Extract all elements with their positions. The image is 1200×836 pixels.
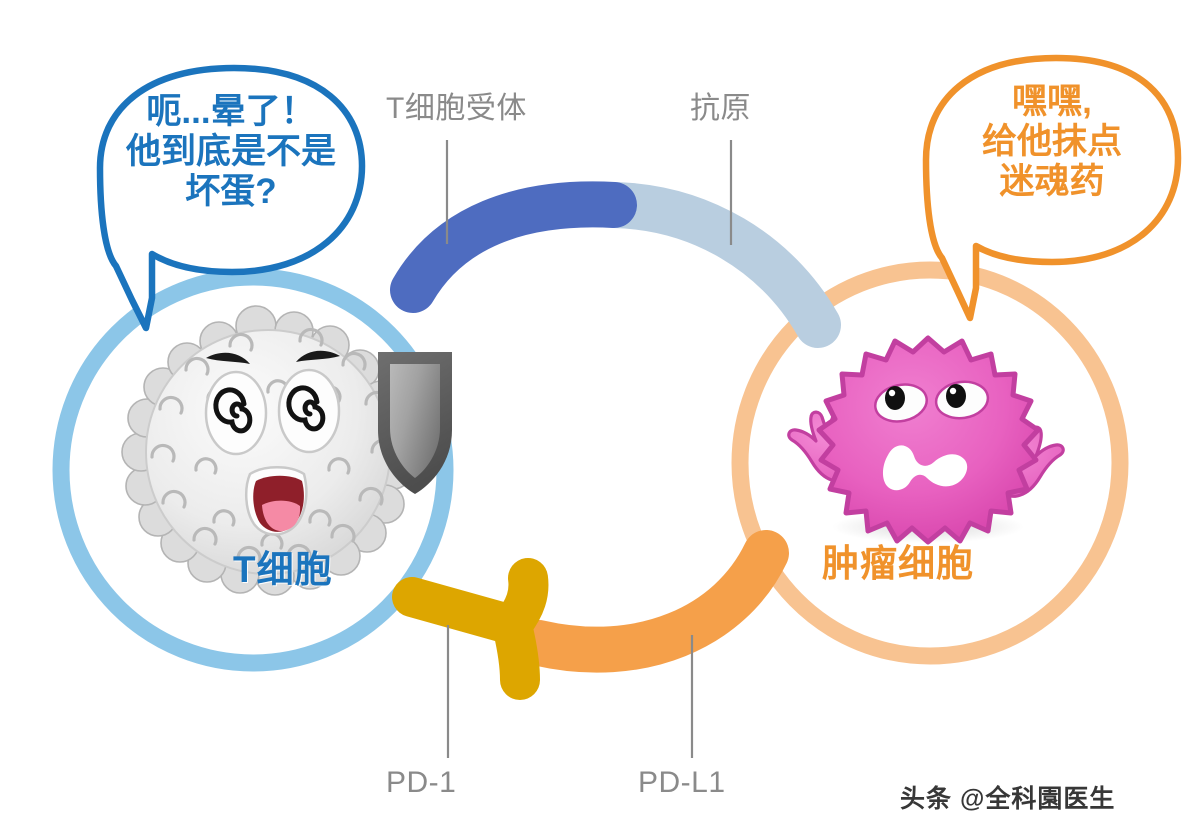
diagram-canvas: T细胞受体 抗原 PD-1 PD-L1 T细胞 肿瘤细胞 呃...晕了！ 他到底… [0, 0, 1200, 836]
label-pd1: PD-1 [386, 768, 456, 798]
tcell-speech-line-2: 他到底是不是 [100, 132, 362, 172]
label-t-cell-receptor: T细胞受体 [386, 94, 527, 124]
label-antigen: 抗原 [690, 94, 751, 124]
t-cell-mouth [246, 467, 306, 534]
pd1-receptor [412, 578, 528, 680]
tcell-speech-text: 呃...晕了！ 他到底是不是 坏蛋? [100, 92, 362, 212]
antigen-arc [614, 205, 818, 325]
pdl1-arc [539, 553, 766, 650]
tumor-cell-body [819, 338, 1038, 542]
t-cell-receptor-arc [413, 204, 614, 290]
tcell-speech-line-1: 呃...晕了！ [100, 92, 362, 132]
tcell-speech-line-3: 坏蛋? [100, 172, 362, 212]
tumor-speech-line-3: 迷魂药 [926, 162, 1178, 202]
tumor-speech-line-1: 嘿嘿, [926, 82, 1178, 122]
label-pdl1: PD-L1 [638, 768, 726, 798]
label-tumor-cell: 肿瘤细胞 [822, 545, 974, 582]
watermark: 头条 @全科園医生 [900, 779, 1115, 815]
tumor-speech-line-2: 给他抹点 [926, 122, 1178, 162]
tumor-speech-text: 嘿嘿, 给他抹点 迷魂药 [926, 82, 1178, 202]
tumor-cell-character [789, 338, 1063, 543]
label-t-cell: T细胞 [233, 551, 333, 588]
